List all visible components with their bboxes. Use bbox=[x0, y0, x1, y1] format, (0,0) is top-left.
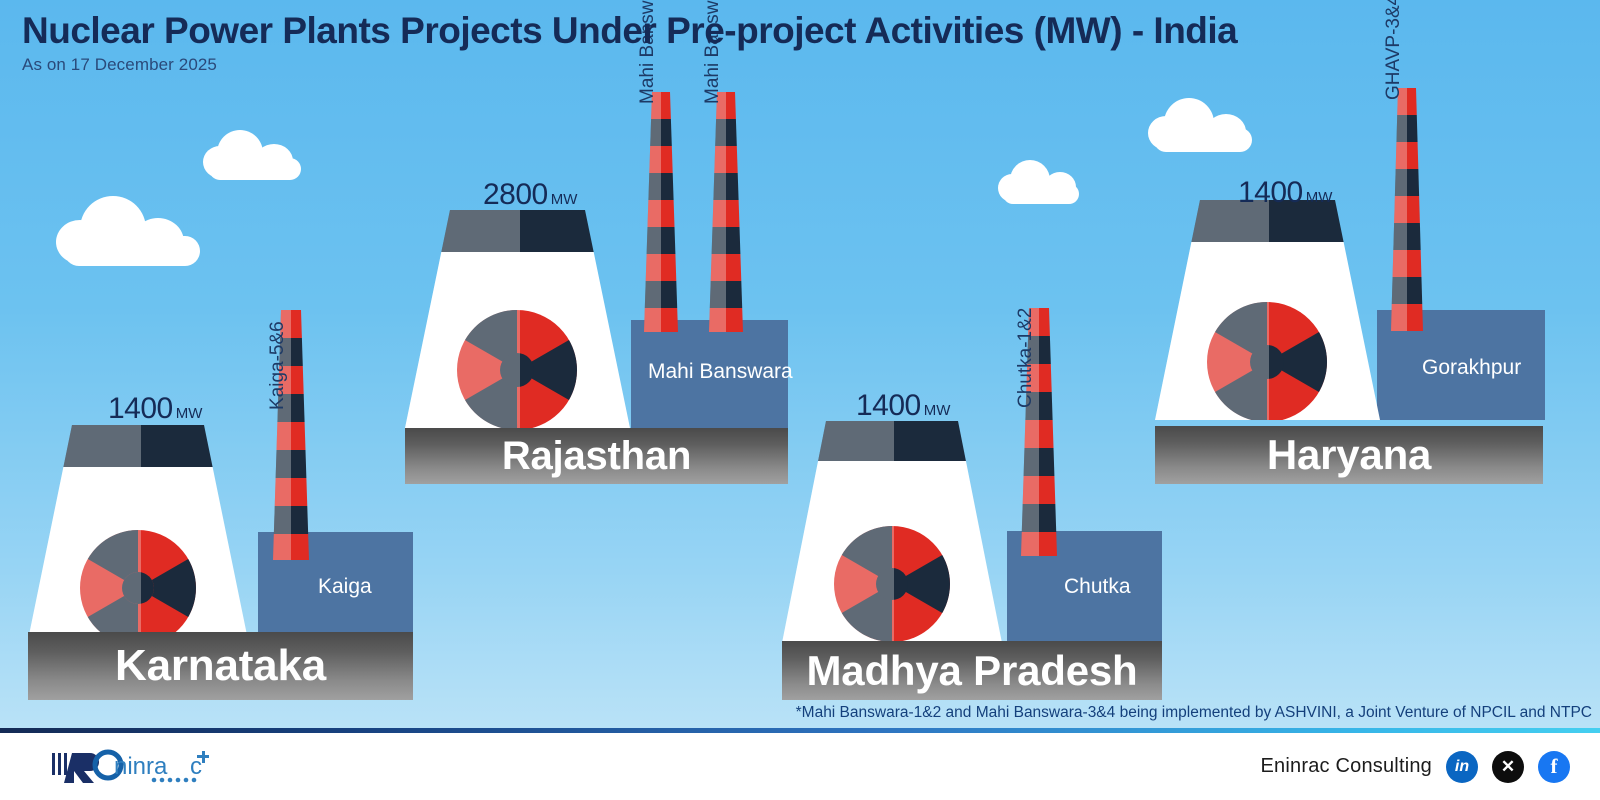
facebook-icon[interactable]: f bbox=[1538, 751, 1570, 783]
svg-text:ninra: ninra bbox=[114, 753, 168, 780]
plant-madhya-pradesh: 1400MW Chutka-1&2 bbox=[782, 303, 1164, 700]
footnote: *Mahi Banswara-1&2 and Mahi Banswara-3&4… bbox=[796, 704, 1592, 722]
building-label-chutka: Chutka bbox=[1064, 575, 1131, 599]
page-title: Nuclear Power Plants Projects Under Pre-… bbox=[22, 10, 1237, 53]
chimney-mahi-banswara-1-2 bbox=[641, 92, 681, 332]
chimney-label-chutka-1-2: Chutka-1&2 bbox=[1015, 308, 1037, 408]
capacity-label-madhya-pradesh: 1400MW bbox=[856, 391, 950, 421]
capacity-unit: MW bbox=[924, 402, 951, 419]
x-twitter-icon[interactable]: ✕ bbox=[1492, 751, 1524, 783]
chimney-ghavp-3-4 bbox=[1387, 88, 1427, 331]
company-name: Eninrac Consulting bbox=[1261, 755, 1432, 778]
state-name-madhya-pradesh: Madhya Pradesh bbox=[807, 647, 1138, 695]
footer-right: Eninrac Consulting in ✕ f bbox=[1261, 733, 1570, 800]
ground-bar-haryana: Haryana bbox=[1155, 426, 1543, 484]
state-name-karnataka: Karnataka bbox=[115, 641, 326, 691]
cooling-tower-haryana bbox=[1155, 200, 1380, 420]
cooling-tower-karnataka bbox=[28, 425, 248, 640]
chimney-mahi-banswara-3-4 bbox=[706, 92, 746, 332]
capacity-label-haryana: 1400MW bbox=[1238, 178, 1332, 208]
cooling-tower-madhya-pradesh bbox=[782, 421, 1002, 643]
capacity-unit: MW bbox=[551, 191, 578, 208]
footer: ninra c Eninrac Consulting in ✕ f bbox=[0, 733, 1600, 800]
state-name-haryana: Haryana bbox=[1267, 431, 1431, 479]
plant-karnataka: 1400MW bbox=[28, 310, 418, 700]
ground-bar-karnataka: Karnataka bbox=[28, 632, 413, 700]
chimney-label-ghavp-3-4: GHAVP-3&4 bbox=[1383, 0, 1405, 100]
capacity-label-rajasthan: 2800MW bbox=[483, 180, 577, 210]
cloud-2 bbox=[203, 130, 305, 182]
ground-bar-madhya-pradesh: Madhya Pradesh bbox=[782, 641, 1162, 700]
capacity-unit: MW bbox=[176, 405, 203, 422]
building-label-gorakhpur: Gorakhpur bbox=[1422, 356, 1521, 380]
state-name-rajasthan: Rajasthan bbox=[502, 434, 691, 479]
capacity-unit: MW bbox=[1306, 189, 1333, 206]
plant-haryana: 1400MW GHAVP-3&4 bbox=[1155, 88, 1545, 484]
cloud-4 bbox=[998, 160, 1084, 206]
page-subtitle: As on 17 December 2025 bbox=[22, 55, 1237, 75]
linkedin-icon[interactable]: in bbox=[1446, 751, 1478, 783]
plant-rajasthan: 2800MW Mahi Banswara-1&2 bbox=[405, 92, 790, 484]
eninrac-logo[interactable]: ninra c bbox=[50, 745, 230, 785]
capacity-value: 2800 bbox=[483, 178, 548, 211]
cooling-tower-rajasthan bbox=[405, 210, 630, 428]
capacity-value: 1400 bbox=[856, 389, 921, 422]
capacity-value: 1400 bbox=[108, 392, 173, 425]
chimney-label-kaiga-5-6: Kaiga-5&6 bbox=[267, 321, 289, 410]
ground-bar-rajasthan: Rajasthan bbox=[405, 428, 788, 484]
cloud-1 bbox=[56, 196, 206, 268]
header: Nuclear Power Plants Projects Under Pre-… bbox=[22, 10, 1237, 75]
infographic-canvas: Nuclear Power Plants Projects Under Pre-… bbox=[0, 0, 1600, 800]
capacity-value: 1400 bbox=[1238, 176, 1303, 209]
capacity-label-karnataka: 1400MW bbox=[108, 394, 202, 424]
building-label-mahi-banswara: Mahi Banswara bbox=[648, 360, 793, 384]
building-label-kaiga: Kaiga bbox=[318, 575, 372, 599]
